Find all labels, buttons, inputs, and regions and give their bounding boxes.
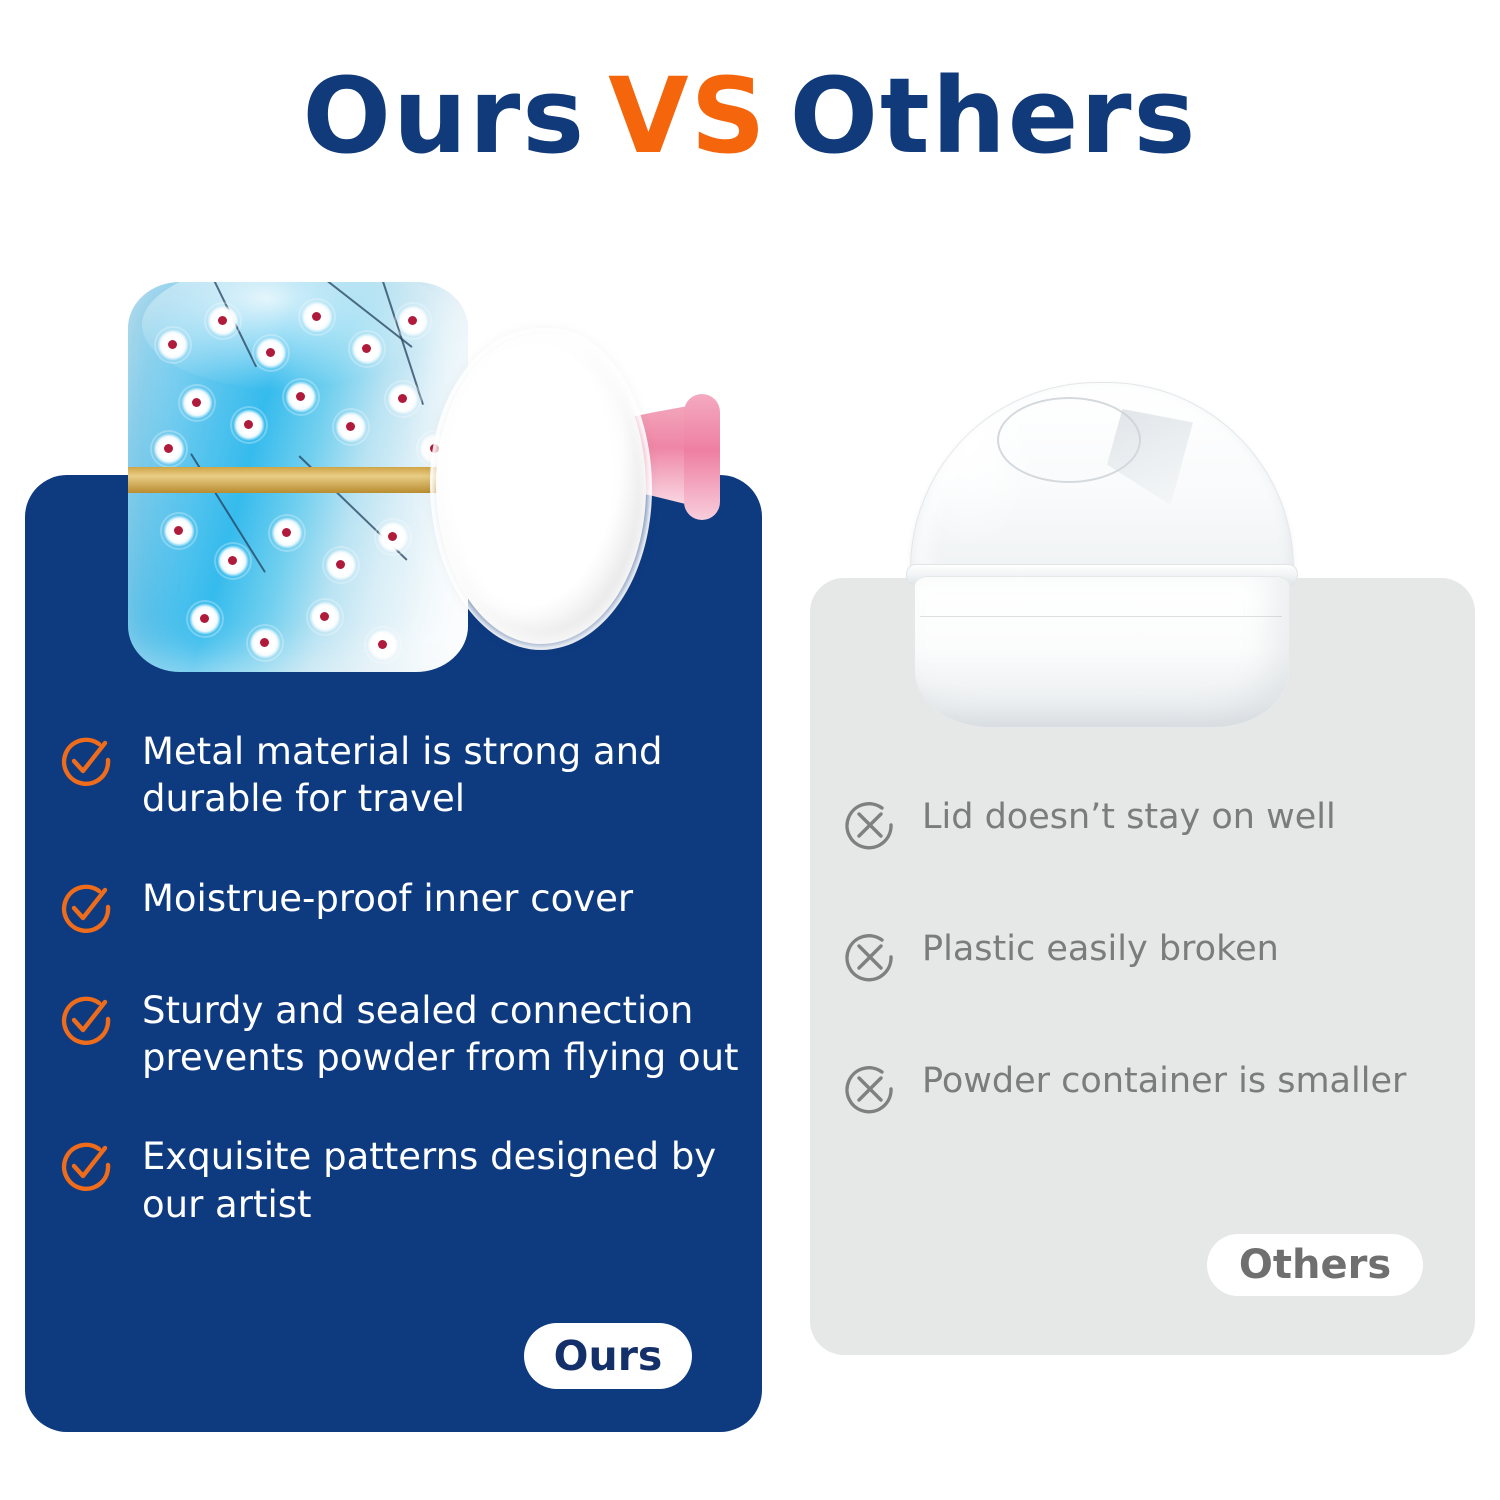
blossom-icon <box>366 628 400 662</box>
blossom-icon <box>188 602 222 636</box>
list-item: Exquisite patterns designed by our artis… <box>58 1133 758 1228</box>
title-others-text: Others <box>790 55 1198 177</box>
check-circle-icon <box>58 991 114 1047</box>
list-item-label: Metal material is strong and durable for… <box>142 728 752 823</box>
blossom-icon <box>308 600 342 634</box>
blossom-icon <box>386 382 420 416</box>
plastic-dome-lid <box>910 382 1294 579</box>
x-circle-icon <box>842 1061 898 1117</box>
x-circle-icon <box>842 929 898 985</box>
list-item-label: Lid doesn’t stay on well <box>922 795 1336 840</box>
blossom-icon <box>232 408 266 442</box>
ours-badge: Ours <box>524 1323 692 1389</box>
blossom-icon <box>152 432 186 466</box>
ours-product-image <box>118 272 738 682</box>
check-circle-icon <box>58 879 114 935</box>
blossom-icon <box>396 304 430 338</box>
blossom-icon <box>180 386 214 420</box>
list-item-label: Moistrue-proof inner cover <box>142 875 633 922</box>
others-badge: Others <box>1207 1234 1423 1296</box>
x-circle-icon <box>842 797 898 853</box>
blossom-icon <box>248 626 282 660</box>
list-item: Plastic easily broken <box>842 927 1462 985</box>
blossom-icon <box>300 300 334 334</box>
blossom-icon <box>334 410 368 444</box>
base-seam <box>920 616 1282 617</box>
others-feature-list: Lid doesn’t stay on well Plastic easily … <box>842 795 1462 1191</box>
list-item-label: Plastic easily broken <box>922 927 1279 972</box>
list-item: Sturdy and sealed connection prevents po… <box>58 987 758 1082</box>
blossom-icon <box>350 332 384 366</box>
others-product-image <box>880 378 1325 738</box>
puff-handle-knob <box>684 394 720 520</box>
dome-tab <box>1107 409 1193 505</box>
blossom-icon <box>162 514 196 548</box>
plastic-base <box>914 576 1290 728</box>
list-item: Metal material is strong and durable for… <box>58 728 758 823</box>
list-item: Powder container is smaller <box>842 1059 1462 1117</box>
powder-puff <box>436 334 646 644</box>
list-item-label: Powder container is smaller <box>922 1059 1406 1104</box>
blossom-icon <box>284 380 318 414</box>
blossom-icon <box>206 304 240 338</box>
list-item-label: Exquisite patterns designed by our artis… <box>142 1133 752 1228</box>
blossom-icon <box>324 548 358 582</box>
list-item: Lid doesn’t stay on well <box>842 795 1462 853</box>
list-item-label: Sturdy and sealed connection prevents po… <box>142 987 752 1082</box>
tin-gold-band <box>128 467 468 493</box>
blossom-icon <box>156 328 190 362</box>
check-circle-icon <box>58 1137 114 1193</box>
blossom-icon <box>376 520 410 554</box>
title-vs-text: VS <box>608 55 767 177</box>
page-title: OursVSOthers <box>0 62 1500 171</box>
metal-tin <box>128 282 468 672</box>
title-ours-text: Ours <box>303 55 587 177</box>
blossom-icon <box>254 336 288 370</box>
blossom-icon <box>216 544 250 578</box>
blossom-icon <box>270 516 304 550</box>
check-circle-icon <box>58 732 114 788</box>
puff-fuzz <box>430 328 652 650</box>
ours-feature-list: Metal material is strong and durable for… <box>58 728 758 1228</box>
list-item: Moistrue-proof inner cover <box>58 875 758 935</box>
